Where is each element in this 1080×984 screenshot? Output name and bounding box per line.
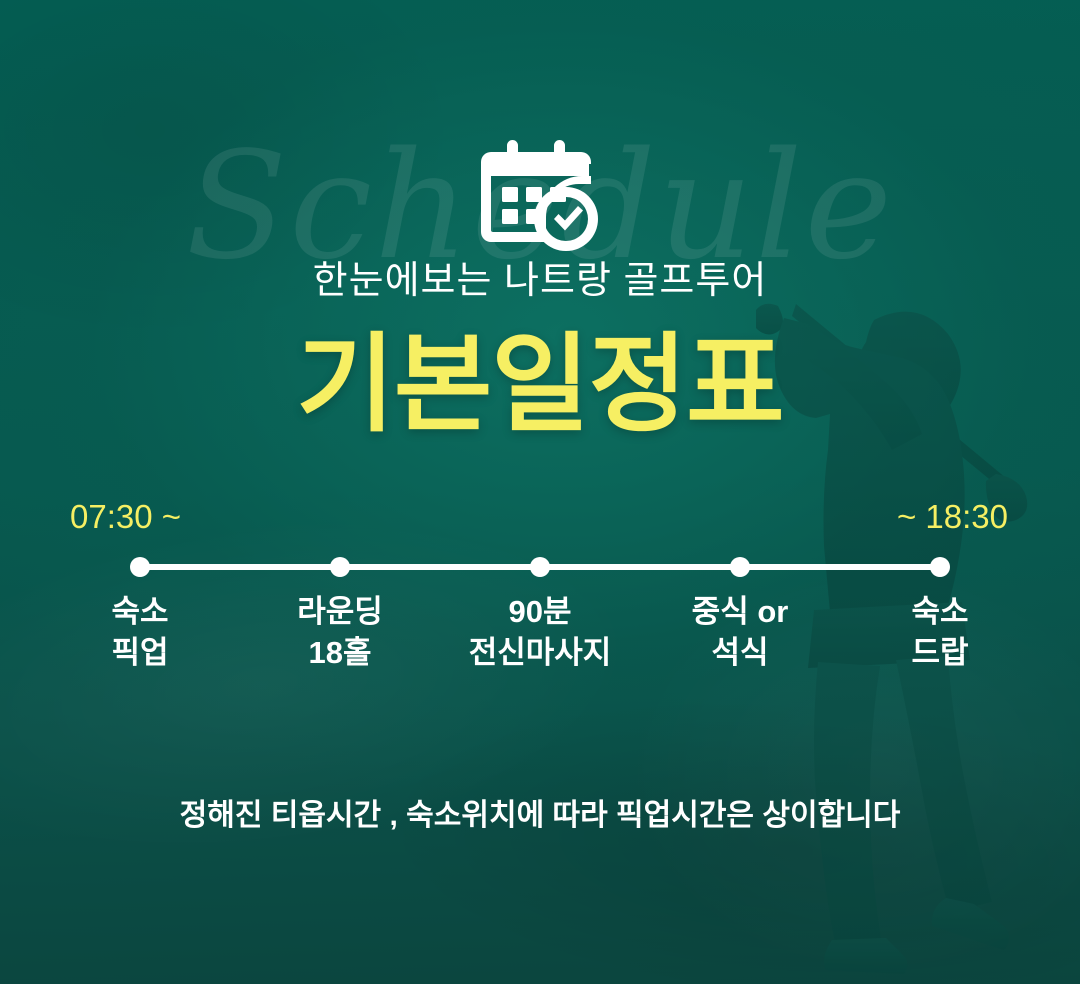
page-title: 기본일정표 xyxy=(0,325,1080,445)
schedule-poster: Schedule 한눈에보는 나 xyxy=(0,0,1080,984)
timeline-stop-5: 숙소드랍 xyxy=(830,592,1050,674)
timeline-dot-5[interactable] xyxy=(930,557,950,577)
timeline-stop-line1: 라운딩 xyxy=(297,594,383,629)
timeline-stop-4: 중식 or석식 xyxy=(630,592,850,674)
timeline-stop-line2: 석식 xyxy=(630,633,850,674)
timeline-stop-labels: 숙소픽업라운딩18홀90분전신마사지중식 or석식숙소드랍 xyxy=(0,592,1080,702)
timeline-track xyxy=(140,563,940,571)
timeline-dot-4[interactable] xyxy=(730,557,750,577)
footnote-text: 정해진 티옵시간 , 숙소위치에 따라 픽업시간은 상이합니다 xyxy=(0,790,1080,834)
timeline-stop-1: 숙소픽업 xyxy=(30,592,250,674)
timeline-stop-line2: 픽업 xyxy=(30,633,250,674)
end-time-label: ~ 18:30 xyxy=(897,498,1008,536)
timeline-stop-line1: 숙소 xyxy=(911,594,968,629)
timeline-stop-line2: 드랍 xyxy=(830,633,1050,674)
calendar-check-icon xyxy=(481,140,599,252)
timeline-stop-line1: 90분 xyxy=(508,594,571,629)
timeline-dot-2[interactable] xyxy=(330,557,350,577)
timeline-stop-line2: 전신마사지 xyxy=(430,633,650,674)
timeline-stop-2: 라운딩18홀 xyxy=(230,592,450,674)
timeline-stop-line1: 숙소 xyxy=(111,594,168,629)
timeline-dot-3[interactable] xyxy=(530,557,550,577)
timeline-stop-line1: 중식 or xyxy=(692,594,789,629)
timeline-stop-line2: 18홀 xyxy=(230,633,450,674)
calendar-check-icon-wrapper xyxy=(0,140,1080,252)
timeline-dot-1[interactable] xyxy=(130,557,150,577)
timeline-stop-3: 90분전신마사지 xyxy=(430,592,650,674)
start-time-label: 07:30 ~ xyxy=(70,498,181,536)
page-subtitle: 한눈에보는 나트랑 골프투어 xyxy=(0,260,1080,304)
